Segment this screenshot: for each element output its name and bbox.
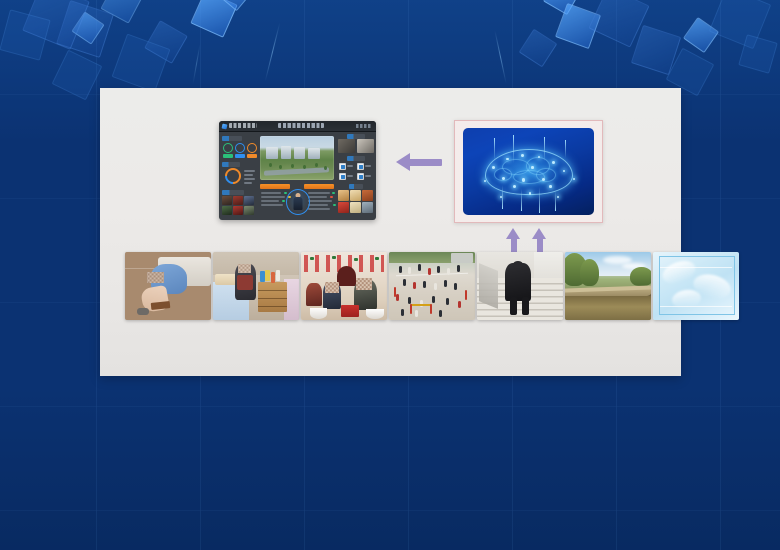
food-thumbnail[interactable] — [362, 190, 373, 201]
stat-line — [244, 170, 255, 172]
brain-light-ray — [565, 140, 566, 158]
stat-row — [308, 196, 327, 198]
building-shape — [308, 148, 320, 159]
cabinet-line — [258, 306, 287, 307]
food-thumbnail[interactable] — [338, 190, 349, 201]
barrier-post — [410, 304, 412, 314]
device-label — [347, 165, 353, 167]
brain-node — [529, 192, 532, 195]
building-shape — [266, 147, 278, 158]
brain-light-ray — [544, 137, 545, 161]
stat-line — [244, 182, 252, 184]
food-thumbnail[interactable] — [338, 202, 349, 213]
device-label — [365, 165, 371, 167]
gauge-orange[interactable] — [247, 143, 257, 153]
photo-strip — [125, 252, 739, 320]
photo-abstract-blue[interactable] — [653, 252, 739, 320]
arrow-left-shaft — [408, 159, 442, 166]
willow-tree — [580, 259, 599, 286]
dashboard-right-panel — [338, 134, 374, 217]
camera-feed[interactable] — [357, 139, 374, 153]
face-blur-mosaic — [325, 282, 339, 293]
device-label — [347, 175, 353, 177]
person-thumbnail[interactable] — [222, 206, 232, 215]
person-marker — [432, 296, 435, 303]
person-marker — [408, 297, 411, 304]
photo-activity-room[interactable] — [301, 252, 387, 320]
cabinet-line — [258, 290, 287, 291]
gauge-blue[interactable] — [235, 143, 245, 153]
photo-man-on-stairs[interactable] — [477, 252, 563, 320]
person-marker — [399, 266, 402, 273]
brain-light-ray — [555, 191, 556, 211]
building-shape — [294, 147, 305, 159]
brain-node — [549, 185, 552, 188]
man-coat-shape — [505, 263, 531, 301]
button-blue[interactable] — [235, 154, 245, 158]
person-thumbnail[interactable] — [233, 206, 243, 215]
person-marker — [457, 265, 460, 272]
brain-light-ray — [521, 189, 522, 211]
brain-node — [542, 178, 545, 181]
dashboard-title — [278, 123, 324, 128]
camera-feed[interactable] — [338, 139, 355, 153]
stat-row — [261, 200, 279, 202]
person-marker — [439, 310, 442, 317]
arrow-up-1 — [506, 228, 521, 254]
face-blur-mosaic — [147, 272, 164, 283]
person-marker — [396, 294, 399, 301]
person-marker — [446, 298, 449, 305]
brain-light-ray — [539, 187, 540, 213]
person-thumbnail[interactable] — [244, 196, 254, 205]
status-dot — [284, 192, 287, 194]
person-thumbnail[interactable] — [222, 196, 232, 205]
stat-row — [308, 200, 332, 202]
dashboard-header-right — [356, 124, 372, 128]
section-bar-left[interactable] — [260, 184, 290, 189]
willow-tree — [630, 267, 651, 286]
vest-shape — [237, 275, 253, 290]
person-thumbnail[interactable] — [244, 206, 254, 215]
bottle-shape — [271, 272, 275, 283]
highlight-line — [660, 267, 732, 268]
bottle-shape — [265, 270, 269, 281]
brain-node — [521, 154, 524, 157]
dashboard-header — [219, 121, 376, 132]
dashboard-logo-icon — [222, 123, 228, 129]
road-shape — [264, 167, 329, 175]
leg-shape — [510, 297, 518, 315]
stat-row — [261, 196, 285, 198]
brain-node — [573, 178, 575, 180]
command-center-dashboard[interactable] — [219, 121, 376, 220]
brain-light-ray — [494, 138, 495, 160]
person-marker — [415, 310, 418, 317]
person-marker — [458, 301, 461, 308]
building-shape — [281, 146, 291, 159]
brain-light-ray — [502, 185, 503, 209]
dashboard-center-panel — [258, 134, 336, 217]
face-blur-mosaic — [356, 278, 371, 290]
highlight-line — [660, 306, 732, 307]
food-thumbnail[interactable] — [362, 202, 373, 213]
green-decor — [332, 256, 336, 259]
food-thumbnail[interactable] — [350, 190, 361, 201]
face-blur-mosaic — [238, 264, 251, 274]
person-thumbnail-grid[interactable] — [222, 196, 254, 215]
food-thumbnail-grid[interactable] — [338, 190, 373, 213]
photo-caregiver-fall[interactable] — [125, 252, 211, 320]
person-marker — [423, 281, 426, 288]
gauge-green[interactable] — [223, 143, 233, 153]
device-label — [365, 175, 371, 177]
green-decor — [375, 257, 379, 260]
person-marker — [434, 283, 437, 290]
avatar-body — [294, 197, 303, 210]
device-icon[interactable] — [339, 173, 346, 180]
wall-shape — [213, 252, 299, 275]
dashboard-logo-text — [229, 123, 257, 128]
ai-brain-illustration — [463, 128, 594, 215]
device-icon[interactable] — [339, 163, 346, 170]
bowl-shape — [310, 308, 327, 319]
person-marker — [454, 283, 457, 290]
person-thumbnail[interactable] — [233, 196, 243, 205]
status-dot — [333, 204, 336, 206]
left-panel-label-3 — [222, 190, 244, 195]
gauge-button-group — [223, 154, 257, 158]
photo-riverside-park[interactable] — [565, 252, 651, 320]
photo-plaza-crowd[interactable] — [389, 252, 475, 320]
brain-node — [506, 158, 509, 161]
arrow-up-2 — [532, 228, 547, 254]
bowl-shape — [366, 309, 383, 319]
tree-shape — [279, 165, 282, 169]
stat-row — [308, 204, 328, 206]
stat-row — [308, 208, 330, 210]
tree-shape — [324, 166, 327, 170]
status-dot — [330, 196, 333, 198]
gauge-group — [223, 143, 257, 153]
dashboard-left-panel — [222, 134, 256, 217]
tree-shape — [315, 163, 318, 167]
stat-line — [244, 178, 255, 180]
person-marker — [418, 264, 421, 271]
button-green[interactable] — [223, 154, 233, 158]
left-panel-label — [222, 136, 242, 141]
cabinet-line — [258, 298, 287, 299]
person-marker — [437, 266, 440, 273]
section-bar-right[interactable] — [304, 184, 334, 189]
device-icon[interactable] — [357, 173, 364, 180]
stat-row — [308, 192, 330, 194]
status-dot — [282, 200, 285, 202]
brain-node — [484, 180, 486, 182]
person-marker — [403, 279, 406, 286]
water-region — [565, 296, 651, 320]
stat-row — [261, 192, 281, 194]
barrier-post — [430, 304, 432, 314]
device-icon[interactable] — [357, 163, 364, 170]
right-panel-label-3 — [349, 184, 363, 189]
arrow-left — [396, 152, 444, 172]
brain-light-ray — [513, 135, 514, 163]
person-avatar[interactable] — [286, 189, 310, 215]
button-orange[interactable] — [247, 154, 257, 158]
bottle-shape — [276, 270, 280, 281]
person-marker — [428, 268, 431, 275]
barrier-post — [394, 287, 396, 297]
shoe-shape — [137, 308, 149, 315]
content-card — [100, 88, 681, 376]
lane-line — [396, 272, 468, 276]
photo-dormitory-room[interactable] — [213, 252, 299, 320]
ai-brain-panel[interactable] — [454, 120, 603, 223]
person-marker — [401, 309, 404, 316]
tree-shape — [269, 163, 272, 167]
person-marker — [444, 280, 447, 287]
status-dot — [332, 192, 335, 194]
barrier-post — [465, 290, 467, 300]
red-box-shape — [341, 305, 360, 317]
green-decor — [354, 258, 358, 261]
brain-node — [557, 196, 559, 198]
person-marker — [408, 267, 411, 274]
stat-row — [261, 204, 283, 206]
right-panel-label-2 — [347, 156, 365, 161]
leg-shape — [522, 297, 530, 315]
building-shape — [451, 253, 473, 263]
tree-shape — [291, 164, 294, 168]
handrail-shape — [479, 263, 498, 309]
bottle-shape — [260, 271, 264, 282]
person-marker — [413, 282, 416, 289]
green-decor — [310, 257, 314, 260]
person-shape — [306, 283, 321, 306]
food-thumbnail[interactable] — [350, 202, 361, 213]
stat-line — [244, 174, 253, 176]
slide-stage — [0, 0, 780, 550]
donut-chart — [222, 165, 245, 188]
brain-node — [531, 166, 534, 169]
site-aerial-view[interactable] — [260, 136, 334, 180]
barrier-shape — [410, 304, 432, 306]
arch-decor — [337, 266, 356, 286]
board-shape — [150, 301, 170, 310]
left-panel-label-2 — [222, 162, 240, 167]
